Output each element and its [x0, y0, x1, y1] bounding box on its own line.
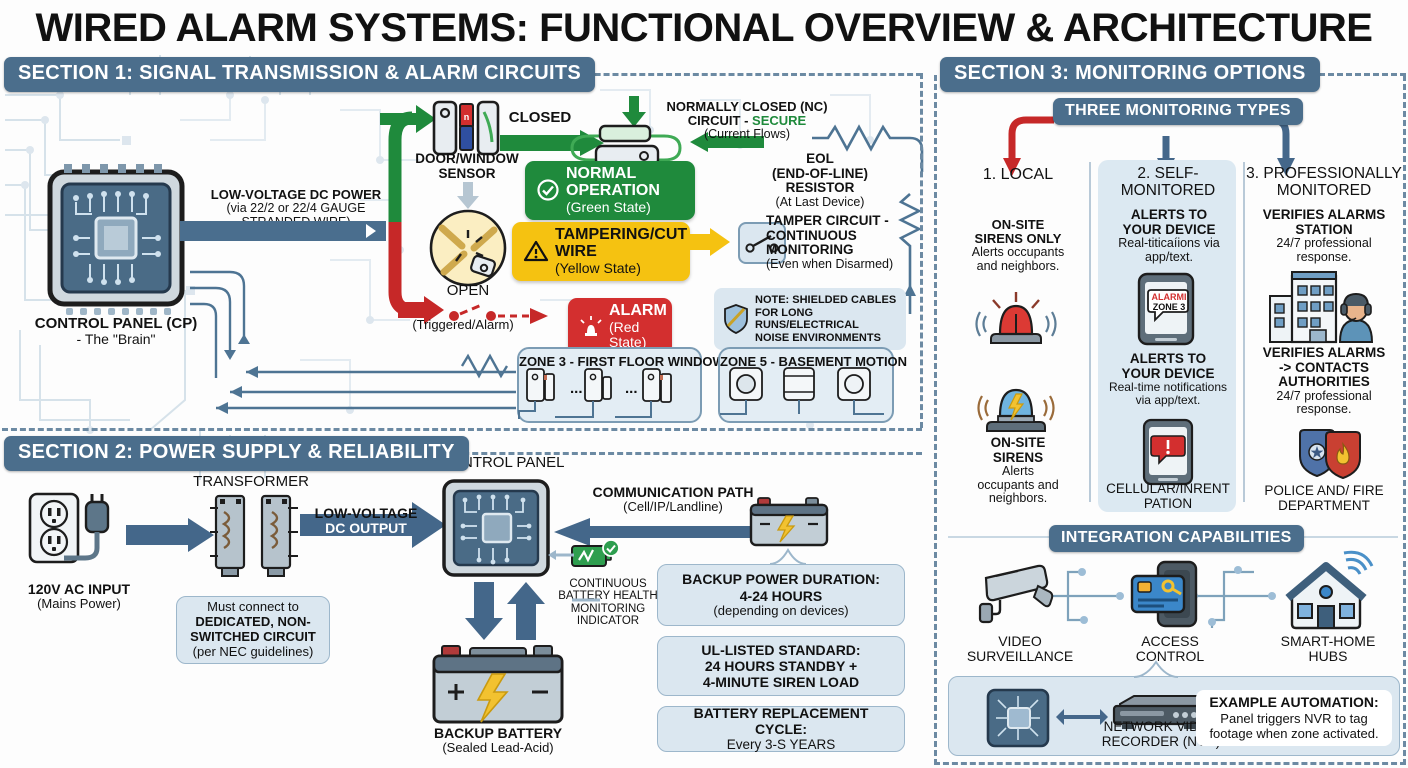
battery-health-icon [570, 540, 626, 572]
phone-exclaim-icon [1140, 418, 1196, 486]
section-3-header: SECTION 3: MONITORING OPTIONS [940, 57, 1320, 92]
monitoring-col-1-head: ON-SITESIRENS ONLY Alerts occupants and … [940, 218, 1096, 273]
health-connector-line [572, 596, 602, 604]
section-2-header: SECTION 2: POWER SUPPLY & RELIABILITY [4, 436, 469, 471]
zone3-ellipsis-2: ... [625, 380, 638, 397]
tamper-arrow [688, 228, 734, 258]
green-wire [300, 110, 410, 230]
smart-home-icon [1286, 554, 1370, 628]
section-1-header: SECTION 1: SIGNAL TRANSMISSION & ALARM C… [4, 57, 595, 92]
shield-icon [723, 304, 749, 334]
integration-rule-left [948, 536, 1054, 538]
phone-badge-alarm: ALARMI [1152, 292, 1187, 302]
monitoring-col-2-mid: ALERTS TOYOUR DEVICE Real-time notificat… [1092, 352, 1244, 407]
monitoring-col-2-title: 2. SELF-MONITORED [1098, 166, 1238, 199]
phone-alarm-icon: ALARMI ZONE 3 [1133, 272, 1199, 348]
control-panel-icon [46, 168, 186, 318]
svg-text:n: n [464, 112, 470, 122]
comm-module-icon [748, 494, 830, 550]
red-siren-icon [978, 280, 1054, 346]
integration-label-smarthome: SMART-HOMEHUBS [1266, 634, 1390, 664]
monitoring-col-3-mid: VERIFIES ALARMS-> CONTACTSAUTHORITIES 24… [1244, 346, 1404, 417]
integration-label-video: VIDEOSURVEILLANCE [956, 634, 1084, 664]
monitoring-col-3-head: VERIFIES ALARMSSTATION 24/7 professional… [1246, 208, 1402, 264]
column-divider-2 [1243, 162, 1245, 502]
fact-box-ul-standard: UL-LISTED STANDARD: 24 HOURS STANDBY + 4… [657, 636, 905, 696]
check-circle-icon [537, 179, 559, 201]
phone-badge-zone: ZONE 3 [1153, 302, 1186, 312]
ac-to-transformer-arrow [126, 518, 216, 552]
monitoring-col-3-foot: POLICE AND/ FIREDEPARTMENT [1244, 484, 1404, 513]
control-panel-2-icon [441, 478, 551, 578]
panel-battery-arrows [468, 582, 544, 644]
fact-box-replacement-cycle: BATTERY REPLACEMENT CYCLE: Every 3-S YEA… [657, 706, 905, 752]
three-monitoring-types-chip: THREE MONITORING TYPES [1053, 98, 1303, 125]
nvr-panel-chip-icon [986, 688, 1052, 748]
nvr-box-pointer [1134, 660, 1180, 678]
zone-5-devices [728, 366, 886, 420]
cut-wire-icon [428, 208, 508, 288]
section-1-right-divider [920, 73, 923, 428]
section-3-right-divider [1403, 75, 1406, 765]
monitoring-station-icon [1268, 272, 1378, 346]
open-label: OPEN [430, 283, 506, 299]
normal-operation-badge: NORMAL OPERATION (Green State) [525, 161, 695, 220]
tampering-badge: TAMPERING/CUT WIRE (Yellow State) [512, 222, 690, 281]
fact-box-backup-duration: BACKUP POWER DURATION: 4-24 HOURS (depen… [657, 564, 905, 626]
monitoring-col-2-head: ALERTS TOYOUR DEVICE Real-titicaíions vi… [1096, 208, 1242, 264]
ac-input-label: 120V AC INPUT (Mains Power) [4, 582, 154, 611]
monitoring-col-1-mid: ON-SITESIRENS Alerts occupants and neigh… [940, 436, 1096, 506]
transformer-label: TRANSFORMER [186, 474, 316, 490]
siren-icon [580, 314, 602, 338]
example-automation-box: EXAMPLE AUTOMATION: Panel triggers NVR t… [1196, 690, 1392, 746]
keycard-reader-icon [1130, 560, 1210, 628]
transformer-icon [210, 494, 300, 578]
page-title: WIRED ALARM SYSTEMS: FUNCTIONAL OVERVIEW… [0, 0, 1408, 56]
zone3-ellipsis-1: ... [570, 380, 583, 397]
monitoring-col-3-title: 3. PROFESSIONALLYMONITORED [1244, 166, 1404, 199]
dedicated-circuit-note: Must connect to DEDICATED, NON- SWITCHED… [176, 596, 330, 664]
section-1-dash [550, 73, 922, 76]
zone-3-devices: ... ... [525, 367, 697, 419]
police-fire-badge-icon [1284, 428, 1368, 484]
closed-label: CLOSED [505, 110, 575, 126]
section-3-bottom-divider [934, 762, 1406, 765]
panel-down-wires [186, 268, 306, 388]
backup-battery-label: BACKUP BATTERY (Sealed Lead-Acid) [420, 726, 576, 755]
shielded-cable-note: NOTE: SHIELDED CABLES FOR LONG RUNS/ELEC… [714, 288, 906, 350]
wall-outlet-icon [28, 492, 128, 574]
cctv-camera-icon [978, 562, 1054, 624]
section-3-left-divider [934, 75, 937, 765]
door-window-sensor-label: DOOR/WINDOW SENSOR [404, 152, 530, 181]
health-to-panel-arrow [548, 548, 574, 562]
section-1-bottom-divider [2, 428, 922, 431]
section-2-dash [436, 452, 922, 455]
monitoring-col-1-title: 1. LOCAL [944, 166, 1092, 183]
integration-rule-right [1294, 536, 1398, 538]
warning-triangle-icon [524, 240, 548, 262]
blue-strobe-icon [978, 370, 1054, 434]
sensor-down-arrow [457, 182, 479, 210]
infographic-root: WIRED ALARM SYSTEMS: FUNCTIONAL OVERVIEW… [0, 0, 1408, 768]
eol-resistor-label: EOL (END-OF-LINE) RESISTOR (At Last Devi… [750, 152, 890, 209]
dc-output-label: LOW-VOLTAGE DC OUTPUT [304, 506, 428, 536]
backup-battery-icon [430, 644, 566, 730]
monitoring-col-2-foot: CELLULAR/INRENTPATION [1092, 482, 1244, 511]
integration-chip: INTEGRATION CAPABILITIES [1049, 525, 1304, 552]
